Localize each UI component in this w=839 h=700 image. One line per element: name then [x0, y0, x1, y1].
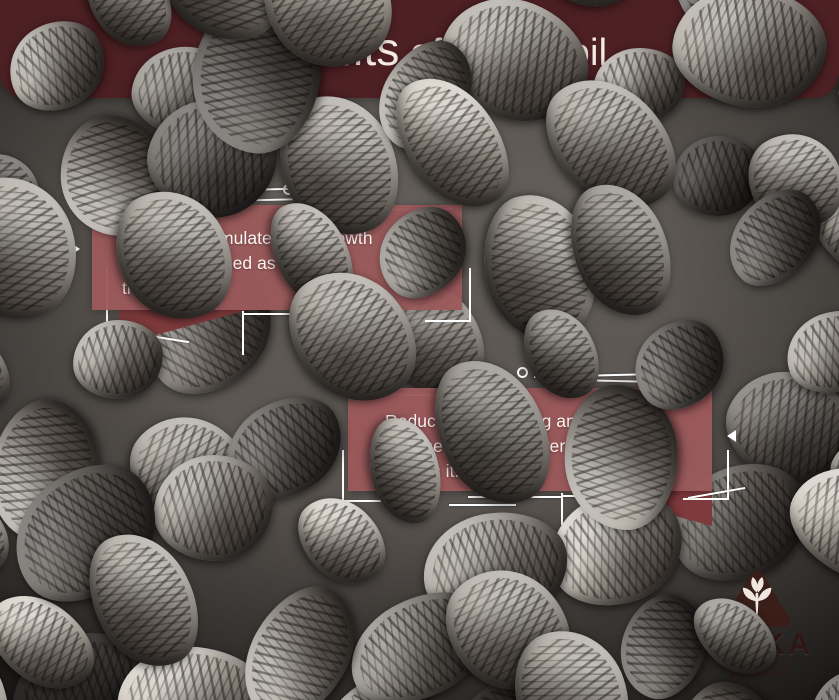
circle-marker-2 [517, 367, 528, 378]
corner-bracket-bottom-1 [242, 311, 244, 355]
infographic-poster: Benefits of castor oil Castor oil stimul… [0, 0, 839, 700]
corner-bracket-bottom-2 [561, 493, 563, 525]
triangle-left-marker-2 [727, 430, 736, 442]
accent-line-bottom-3 [449, 504, 516, 506]
